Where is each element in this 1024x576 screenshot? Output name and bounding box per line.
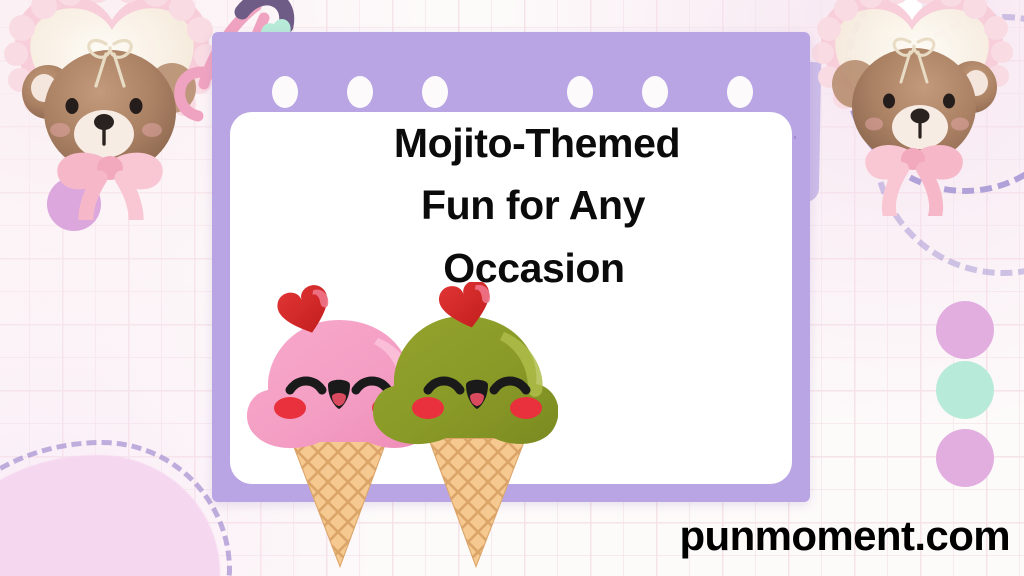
binder-hole: [727, 76, 753, 108]
binder-hole: [347, 76, 373, 108]
pink-dot-right-bottom: [936, 429, 994, 487]
binder-hole: [567, 76, 593, 108]
binder-holes: [212, 76, 810, 110]
teddy-bear-right: [794, 0, 1024, 216]
poster-canvas: Mojito-Themed Fun for Any Occasion: [0, 0, 1024, 576]
site-watermark: punmoment.com: [0, 512, 1010, 560]
page-title: Mojito-Themed Fun for Any Occasion: [228, 112, 788, 299]
title-line-1: Mojito-Themed: [228, 112, 788, 174]
binder-hole: [272, 76, 298, 108]
binder-hole: [642, 76, 668, 108]
binder-hole: [422, 76, 448, 108]
pink-dot-right-top: [936, 301, 994, 359]
title-line-2: Fun for Any: [228, 174, 788, 236]
mint-dot-right-middle: [936, 361, 994, 419]
